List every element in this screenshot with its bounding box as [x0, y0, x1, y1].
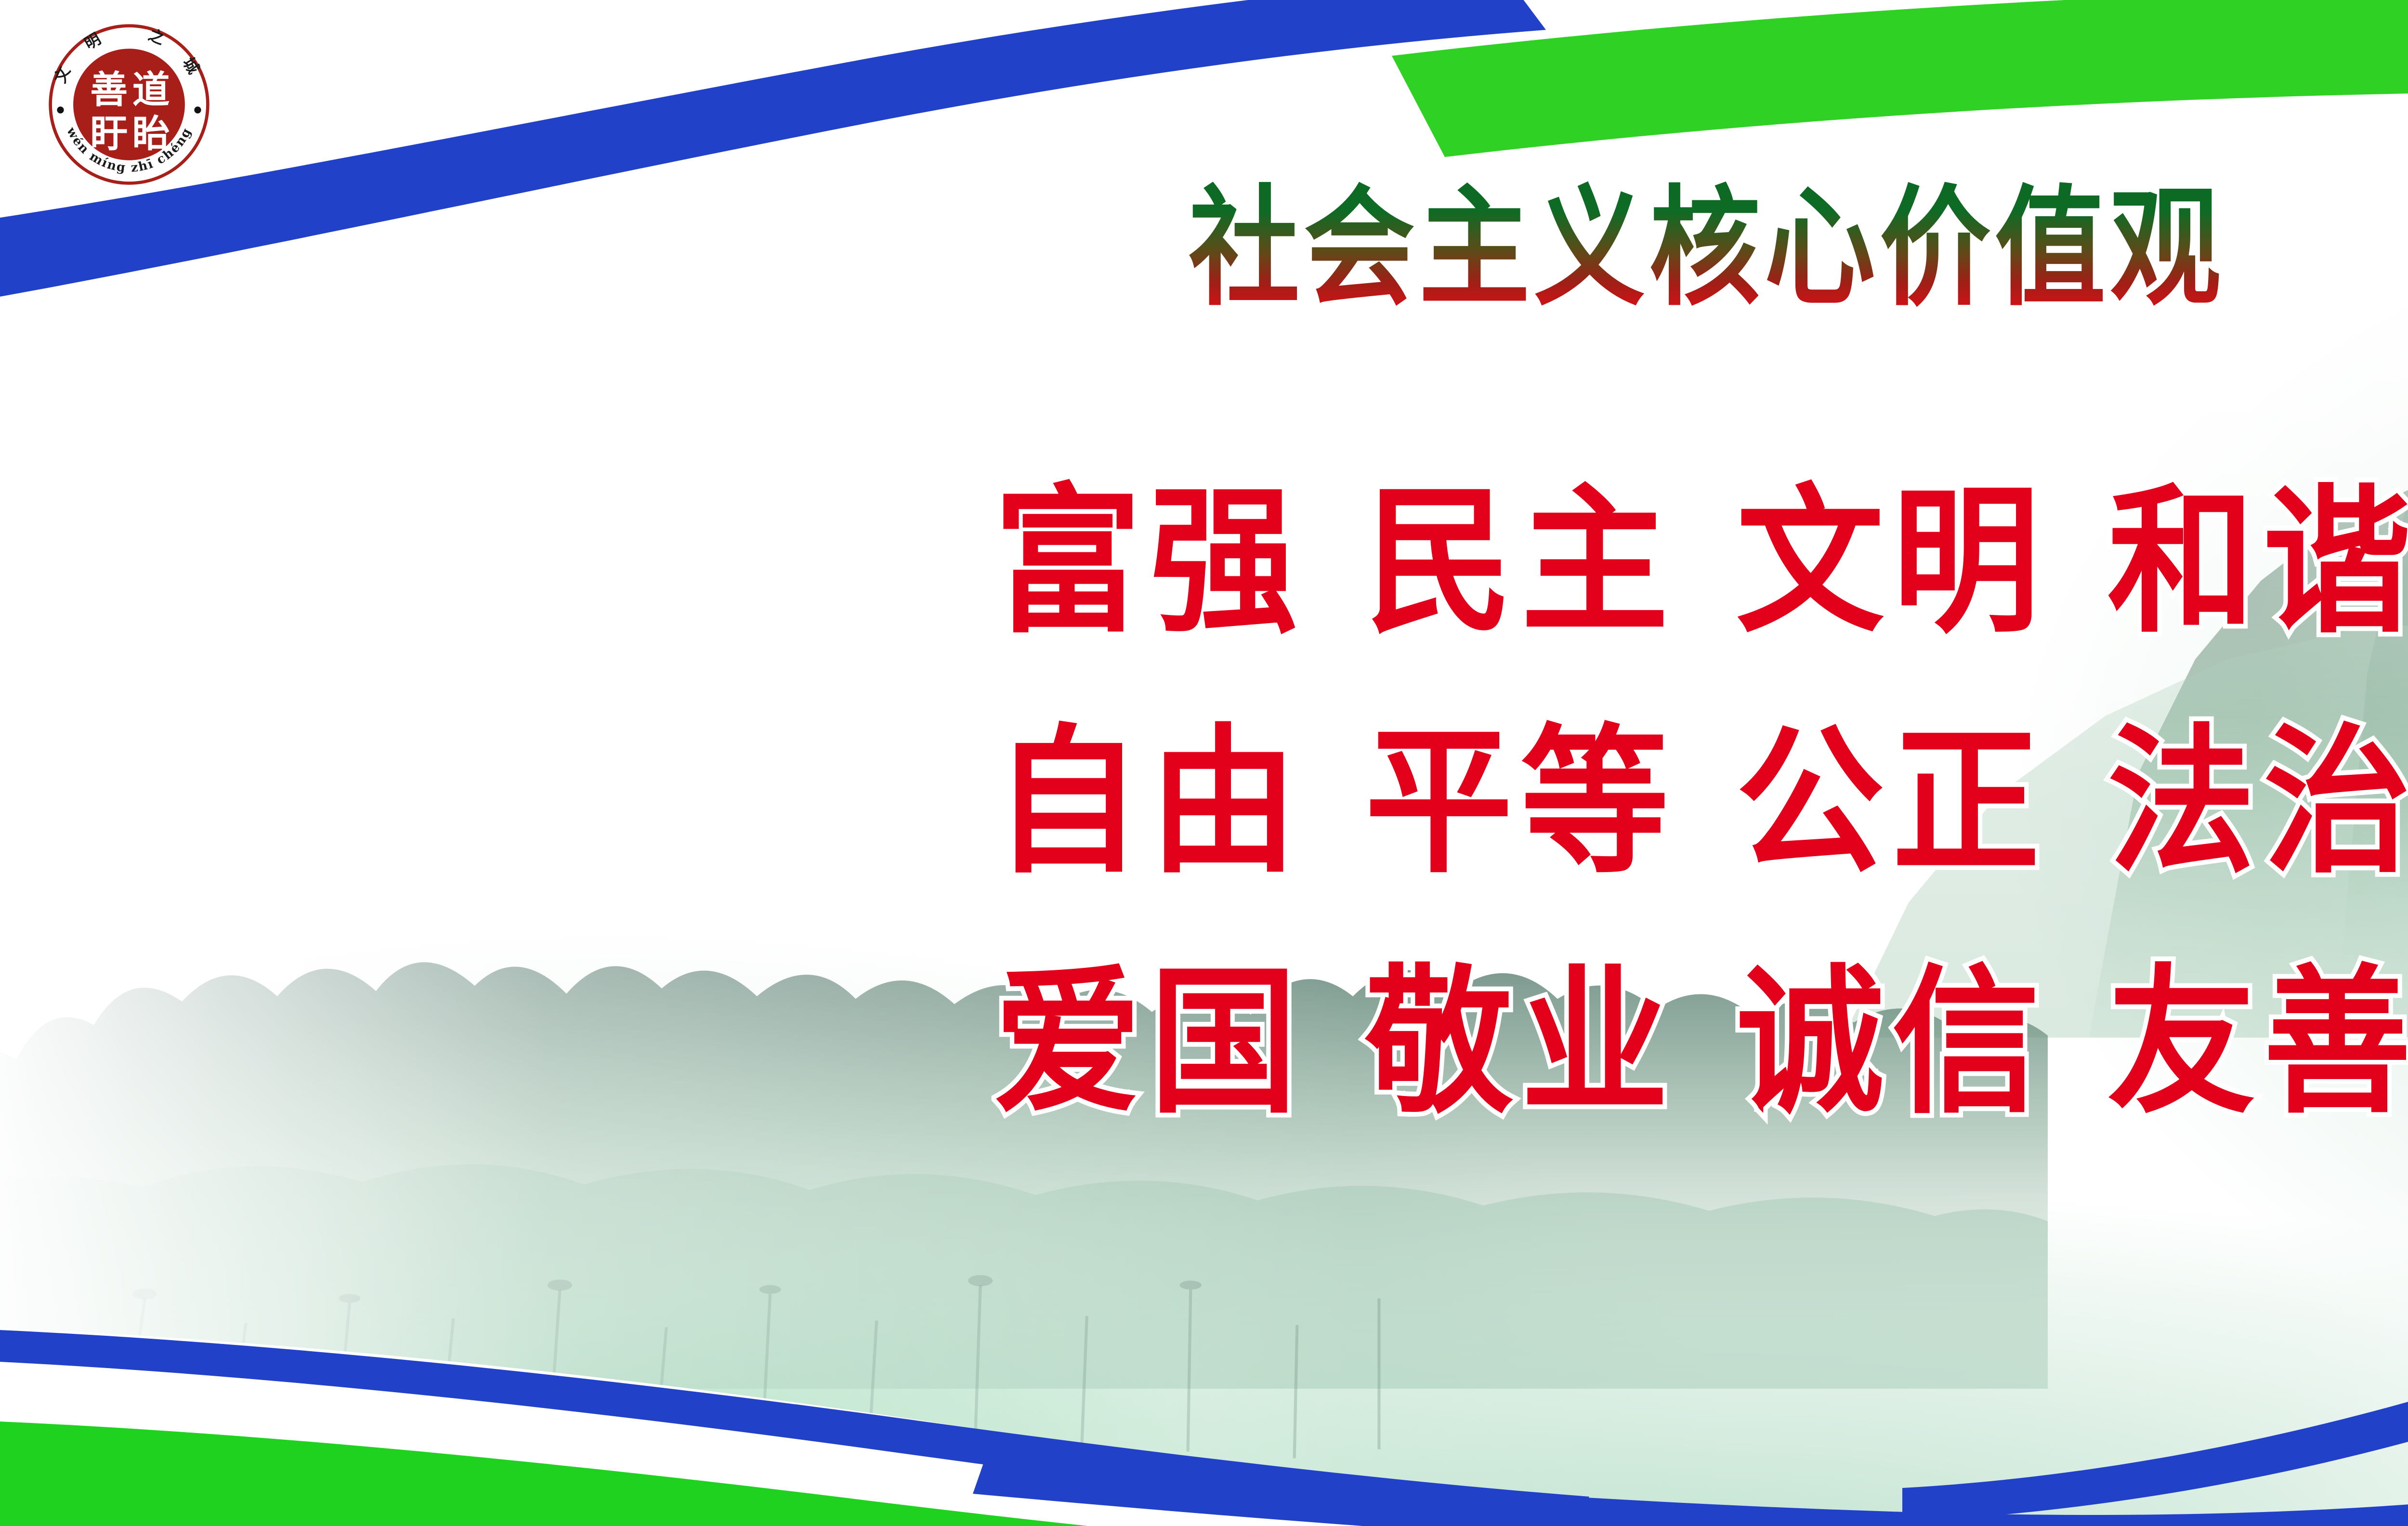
top-blue-nib [694, 66, 834, 109]
slogan-row-2: 自由 平等 公正 法治 [0, 688, 2408, 917]
bottom-left-blue-band [0, 1328, 1522, 1526]
br-blue-band2 [2292, 1142, 2408, 1526]
svg-text:善: 善 [90, 68, 128, 112]
civilization-emblem: 文 明 之 城 善 道 盱 眙 wén míng zhī chéng [38, 13, 221, 196]
slogan-row-3: 爱国 敬业 诚信 友善 [0, 928, 2408, 1157]
lake-reeds [68, 1221, 1434, 1465]
br-blue-lower [1907, 1140, 2408, 1526]
bl-green [0, 1415, 1300, 1526]
bottom-left-blue-band-fill [0, 1330, 2408, 1526]
bottom-left-blue-thick [0, 1334, 1474, 1526]
svg-text:道: 道 [132, 68, 170, 112]
headline-block: 社会主义核心价值观 [0, 181, 2408, 316]
slogan-line-1: 富强 民主 文明 和谐 [994, 448, 2408, 677]
svg-text:盱: 盱 [90, 112, 128, 156]
page-title: 社会主义核心价值观 [1189, 181, 2225, 316]
emblem-dot-right [194, 106, 201, 113]
top-green-lower-edge [1392, 0, 2408, 157]
slogan-row-1: 富强 民主 文明 和谐 [0, 448, 2408, 677]
bl-green-band [0, 1421, 1271, 1526]
bottom-blue-ribbon [0, 1197, 2408, 1526]
core-values-slogan-block: 富强 民主 文明 和谐 自由 平等 公正 法治 爱国 敬业 诚信 友善 [0, 448, 2408, 1169]
bottom-centre-blue [0, 1329, 2408, 1526]
slogan-line-2: 自由 平等 公正 法治 [994, 688, 2408, 917]
top-right-green-sweep [1392, 0, 2408, 96]
banner-board: 文 明 之 城 善 道 盱 眙 wén míng zhī chéng 社会主义核… [0, 0, 2408, 1526]
bottom-left-green-fill [0, 1422, 1228, 1526]
emblem-dot-left [57, 106, 64, 113]
slogan-line-3: 爱国 敬业 诚信 友善 [994, 928, 2408, 1157]
bottom-mid-blue-band [973, 1384, 2408, 1526]
bl-blue [0, 1330, 1589, 1526]
